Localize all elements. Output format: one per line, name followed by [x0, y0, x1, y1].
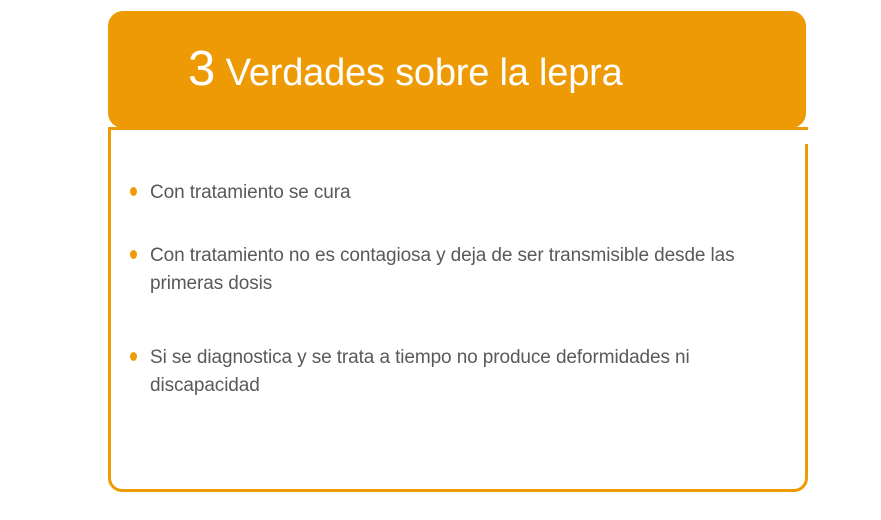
list-item-text: Si se diagnostica y se trata a tiempo no… — [150, 344, 790, 400]
title-text: Verdades sobre la lepra — [226, 54, 623, 92]
orange-dot-icon — [130, 187, 137, 196]
list-item-text: Con tratamiento no es contagiosa y deja … — [150, 242, 790, 298]
list-item: Con tratamiento se cura — [130, 179, 790, 207]
title-count: 3 — [188, 45, 215, 94]
page-title: 3 Verdades sobre la lepra — [188, 45, 623, 94]
card-header-banner: 3 Verdades sobre la lepra — [108, 11, 806, 128]
infographic-card: 3 Verdades sobre la lepra Con tratamient… — [108, 11, 808, 492]
orange-dot-icon — [130, 250, 137, 259]
list-item: Con tratamiento no es contagiosa y deja … — [130, 242, 790, 298]
card-body-panel: Con tratamiento se cura Con tratamiento … — [108, 127, 808, 492]
orange-dot-icon — [130, 352, 137, 361]
list-item-text: Con tratamiento se cura — [150, 179, 790, 207]
list-item: Si se diagnostica y se trata a tiempo no… — [130, 344, 790, 400]
body-top-mask — [114, 130, 808, 144]
